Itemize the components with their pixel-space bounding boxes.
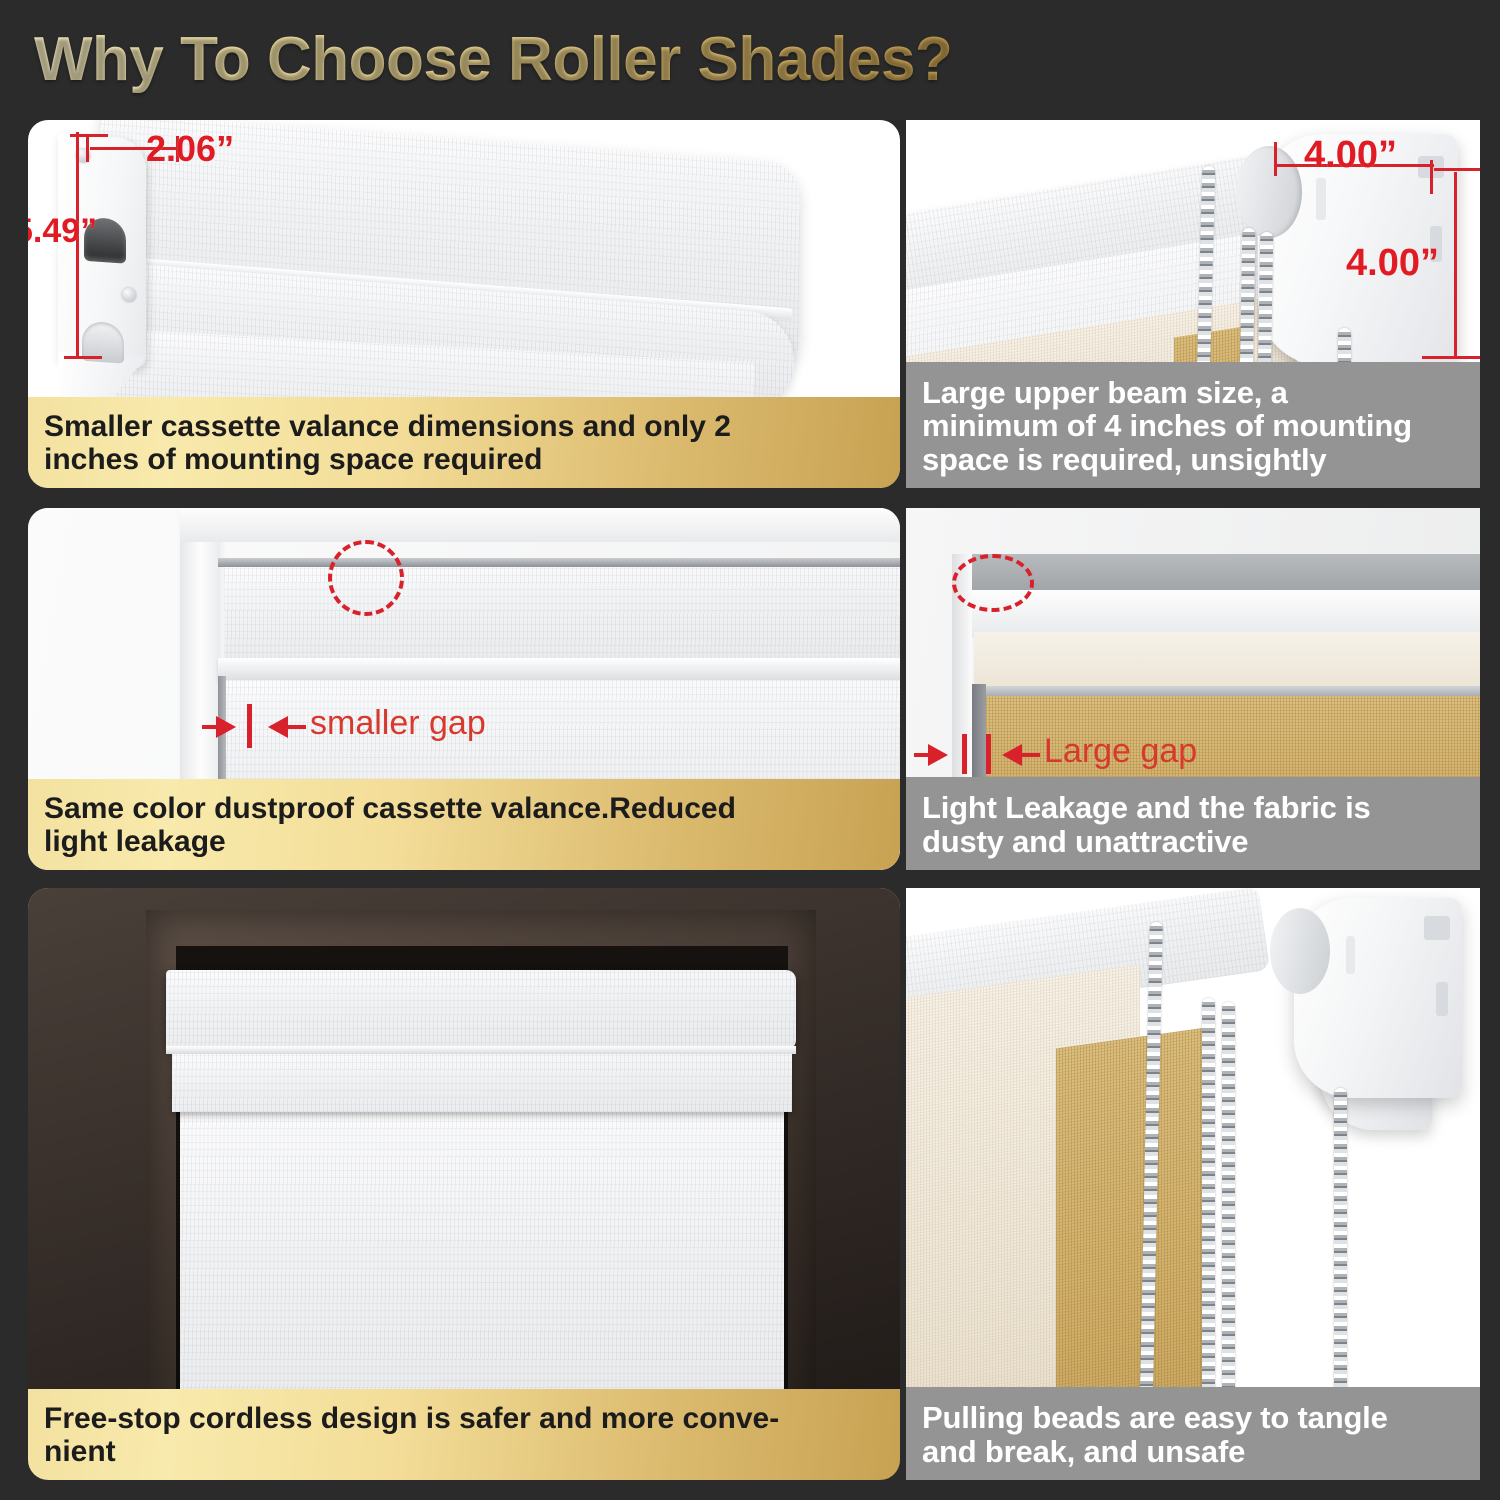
panel-dustproof-cassette: smaller gap Same color dustproof cassett…: [28, 508, 900, 870]
caption-line: light leakage: [44, 826, 884, 858]
caption-line: inches of mounting space required: [44, 444, 884, 476]
highlight-circle-gap: [328, 540, 404, 616]
caption-line: Free-stop cordless design is safer and m…: [44, 1403, 884, 1435]
panel-free-stop-cordless: Free-stop cordless design is safer and m…: [28, 888, 900, 1480]
caption-line: Light Leakage and the fabric is: [922, 791, 1464, 824]
shade-main-panel: [180, 1112, 784, 1430]
panel-pulling-beads: Pulling beads are easy to tangle and bre…: [906, 888, 1480, 1480]
gap-label-large: Large gap: [1044, 732, 1197, 771]
caption-line: nient: [44, 1436, 884, 1468]
leak-arrow-stem-left: [914, 753, 932, 757]
dim-label-height: 5.49”: [28, 212, 97, 251]
dim4-tick-bottom: [1422, 356, 1480, 359]
caption-free-stop-cordless: Free-stop cordless design is safer and m…: [28, 1389, 900, 1480]
bracket-slot: [1346, 936, 1355, 974]
caption-large-upper-beam: Large upper beam size, a minimum of 4 in…: [906, 362, 1480, 488]
cassette-bottom-bar: [218, 658, 900, 680]
leak-valance-cream: [974, 632, 1480, 688]
valance-end-cap: [58, 133, 146, 369]
dim-tick-bottom-left: [64, 356, 102, 359]
shade-valance-groove: [166, 1046, 796, 1054]
dim4-tick-left: [1274, 142, 1277, 176]
gap-bar: [247, 704, 252, 748]
beam-clutch-disc: [1236, 146, 1302, 238]
panel-light-leakage: Large gap Light Leakage and the fabric i…: [906, 508, 1480, 870]
leak-valance: [968, 590, 1480, 638]
caption-line: Smaller cassette valance dimensions and …: [44, 411, 884, 443]
leak-arrow-left: [1002, 744, 1022, 766]
comparison-grid: 5.49” 2.06” Smaller cassette valance dim…: [0, 0, 1500, 1500]
caption-line: Large upper beam size, a: [922, 376, 1464, 409]
bracket-slot: [1316, 178, 1326, 220]
bracket-notch-2: [1436, 982, 1448, 1016]
shade-valance: [166, 970, 796, 1050]
cap-screw-bottom: [122, 287, 136, 302]
leak-gap-bar-2: [986, 734, 991, 774]
caption-line: dusty and unattractive: [922, 825, 1464, 858]
caption-pulling-beads: Pulling beads are easy to tangle and bre…: [906, 1387, 1480, 1480]
cassette-rod: [218, 558, 900, 567]
dim-label-width: 2.06”: [146, 128, 234, 170]
caption-line: Pulling beads are easy to tangle: [922, 1401, 1464, 1434]
dim4-line-height: [1454, 172, 1457, 358]
caption-line: space is required, unsightly: [922, 443, 1464, 476]
leak-gap-bar-1: [962, 734, 967, 774]
leak-rail: [976, 686, 1480, 696]
dim-tick-w-left: [86, 136, 89, 162]
highlight-circle-leak: [952, 554, 1034, 612]
caption-line: Same color dustproof cassette valance.Re…: [44, 793, 884, 825]
bracket-notch-1: [1424, 916, 1450, 940]
dim4-tick-right: [1430, 160, 1433, 194]
cassette-fabric-upper: [224, 567, 900, 667]
caption-cassette-valance: Smaller cassette valance dimensions and …: [28, 397, 900, 488]
leak-arrow-stem-right: [1020, 753, 1040, 757]
dim-tick-width-start: [70, 134, 108, 137]
dim-label-beam-width: 4.00”: [1304, 134, 1397, 177]
panel-large-upper-beam: 4.00” 4.00” Large upper beam size, a min…: [906, 120, 1480, 488]
caption-light-leakage: Light Leakage and the fabric is dusty an…: [906, 777, 1480, 870]
gap-label-smaller: smaller gap: [310, 704, 486, 743]
caption-dustproof-cassette: Same color dustproof cassette valance.Re…: [28, 779, 900, 870]
gap-arrow-stem-right: [286, 725, 306, 729]
panel-cassette-valance: 5.49” 2.06” Smaller cassette valance dim…: [28, 120, 900, 488]
dim4-tick-top: [1434, 168, 1480, 171]
window-head-trim: [180, 508, 900, 542]
dim-label-beam-height: 4.00”: [1346, 242, 1439, 285]
caption-line: minimum of 4 inches of mounting: [922, 409, 1464, 442]
gap-arrow-left: [268, 716, 288, 738]
caption-line: and break, and unsafe: [922, 1435, 1464, 1468]
gap-arrow-stem-left: [202, 725, 220, 729]
beads-clutch-disc: [1270, 908, 1330, 994]
shade-upper-band: [172, 1054, 792, 1112]
